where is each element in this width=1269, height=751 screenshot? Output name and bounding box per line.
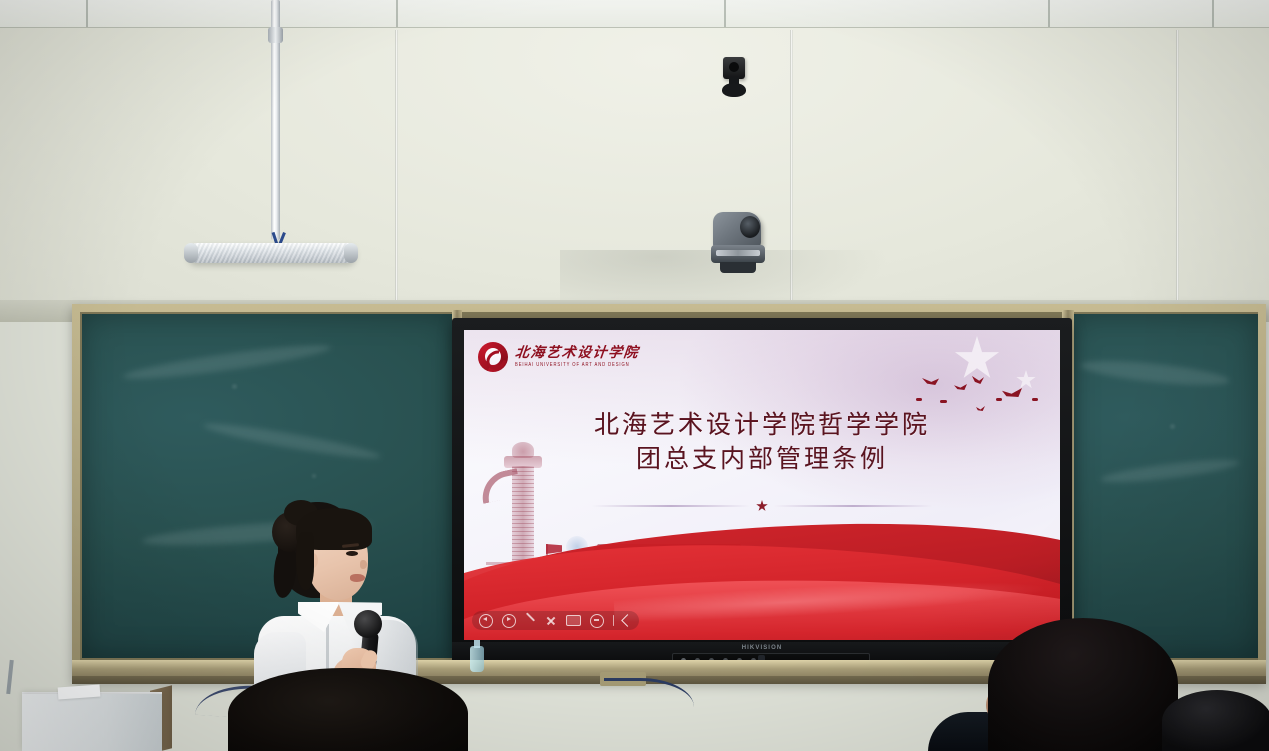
ceiling-seam: [724, 0, 726, 30]
wall-camera-base: [722, 83, 746, 97]
five-pointed-star-icon: [756, 500, 768, 512]
pointer-stick: [6, 660, 14, 694]
audience-head-far-right: [1162, 690, 1269, 751]
microphone-icon: [354, 610, 382, 638]
ptz-camera-strip: [716, 250, 760, 256]
logo-name-en: BEIHAI UNIVERSITY OF ART AND DESIGN: [515, 363, 639, 368]
pole-joint: [268, 27, 283, 43]
ceiling: [0, 0, 1269, 30]
back-icon[interactable]: [479, 614, 493, 628]
lectern: [22, 694, 162, 751]
wall-panel-seam: [1176, 30, 1179, 322]
university-logo: 北海艺术设计学院 BEIHAI UNIVERSITY OF ART AND DE…: [478, 342, 639, 372]
display-brand-label: HIKVISION: [452, 645, 1072, 651]
smart-display-screen[interactable]: 北海艺术设计学院 BEIHAI UNIVERSITY OF ART AND DE…: [464, 330, 1060, 640]
logo-name-cn: 北海艺术设计学院: [514, 347, 639, 361]
blackboard-panel-right: [1070, 314, 1258, 658]
swirl-logo-icon: [478, 342, 508, 372]
slide-annotation-toolbar[interactable]: [472, 611, 639, 630]
eye: [346, 551, 358, 556]
pen-icon[interactable]: [525, 615, 536, 626]
water-bottle-neck: [474, 640, 480, 648]
lamp-end-cap: [344, 243, 358, 263]
ceiling-seam: [1048, 0, 1050, 30]
wall-panel-seam: [395, 30, 398, 322]
ptz-camera-lens-icon: [740, 216, 760, 238]
eraser-icon[interactable]: [545, 615, 557, 627]
ceiling-seam: [86, 0, 88, 30]
ptz-camera-mount: [720, 262, 756, 273]
water-bottle: [470, 646, 484, 672]
rectangle-select-icon[interactable]: [566, 615, 581, 626]
ceiling-light-fixture: [188, 243, 356, 263]
lamp-end-cap: [184, 243, 198, 263]
audience-head-foreground-left: [228, 668, 468, 751]
record-icon[interactable]: [590, 614, 604, 628]
collapse-chevron-icon[interactable]: [622, 614, 635, 627]
presentation-slide: 北海艺术设计学院 BEIHAI UNIVERSITY OF ART AND DE…: [464, 330, 1060, 640]
ceiling-seam: [1212, 0, 1214, 30]
forward-icon[interactable]: [502, 614, 516, 628]
audience-head-foreground-right: [988, 618, 1178, 751]
slide-title-line-1: 北海艺术设计学院哲学学院: [464, 410, 1060, 442]
wall-camera-lens-icon: [729, 62, 739, 72]
ceiling-seam: [396, 0, 398, 30]
classroom-photo-scene: 北海艺术设计学院 BEIHAI UNIVERSITY OF ART AND DE…: [0, 0, 1269, 751]
lamp-texture: [188, 243, 356, 263]
divider-icon: [613, 615, 614, 626]
star-divider: [592, 497, 932, 515]
